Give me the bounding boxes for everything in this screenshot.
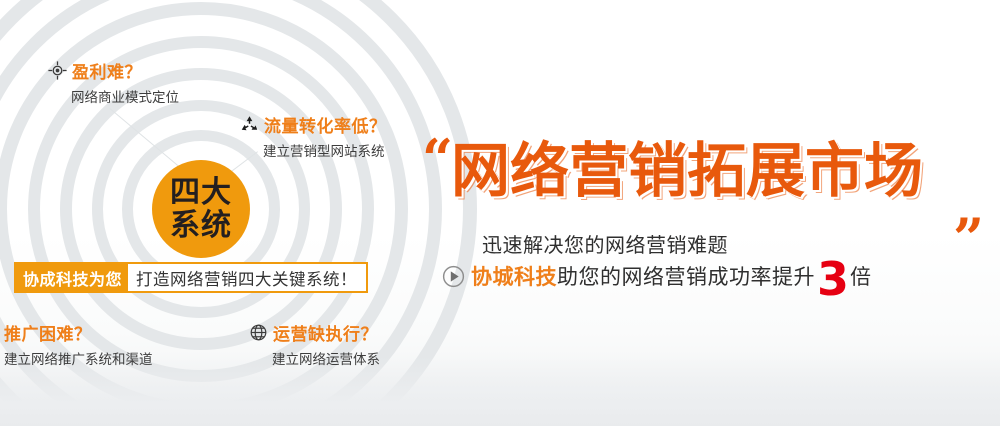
callout-operations-title: 运营缺执行？ (273, 320, 378, 345)
callout-promotion: 推广困难？ 建立网络推广系统和渠道 (4, 320, 153, 368)
callout-conversion-head: 流量转化率低？ (240, 112, 387, 137)
right-message-panel: “ 网络营销拓展市场 „ 迅速解决您的网络营销难题 协城科技 助您的网络营销成功… (420, 0, 1000, 426)
callout-profit-title: 盈利难？ (72, 58, 142, 83)
play-circle-icon (442, 265, 465, 288)
headline-text: 网络营销拓展市场 (451, 141, 923, 200)
subheadline-line1: 迅速解决您的网络营销难题 (482, 229, 728, 258)
callout-profit-head: 盈利难？ (48, 58, 179, 83)
center-circle-line1: 四大 (170, 178, 232, 208)
callout-conversion-title: 流量转化率低？ (264, 112, 387, 137)
callout-conversion: 流量转化率低？ 建立营销型网站系统 (240, 112, 387, 160)
center-circle-badge: 四大 系统 (152, 160, 250, 258)
globe-icon (249, 323, 268, 342)
multiplier-number: 3 (817, 261, 849, 298)
callout-profit-sub: 网络商业模式定位 (71, 86, 179, 106)
center-circle-line2: 系统 (170, 211, 232, 241)
brand-name: 协城科技 (471, 261, 557, 291)
callout-conversion-sub: 建立营销型网站系统 (263, 140, 387, 160)
target-crosshair-icon (48, 61, 67, 80)
callout-promotion-title: 推广困难？ (4, 320, 92, 345)
recycle-icon (240, 115, 259, 134)
tagline-strip: 协成科技为您 打造网络营销四大关键系统！ (14, 262, 368, 293)
quote-open-mark: “ (422, 132, 453, 186)
marketing-banner: 四大 系统 盈利难？ 网络商业模式定位 (0, 0, 1000, 426)
tagline-strip-left: 协成科技为您 (16, 264, 128, 291)
callout-operations-head: 运营缺执行？ (249, 320, 380, 345)
quote-close-mark: „ (954, 180, 985, 234)
multiplier-unit: 倍 (850, 261, 871, 291)
callout-profit: 盈利难？ 网络商业模式定位 (48, 58, 179, 106)
tagline-strip-right: 打造网络营销四大关键系统！ (128, 264, 366, 291)
callout-promotion-sub: 建立网络推广系统和渠道 (4, 348, 153, 368)
callout-operations-sub: 建立网络运营体系 (272, 348, 380, 368)
subheadline-line2: 协城科技 助您的网络营销成功率提升 3 倍 (442, 258, 871, 295)
callout-operations: 运营缺执行？ 建立网络运营体系 (249, 320, 380, 368)
callout-promotion-head: 推广困难？ (4, 320, 153, 345)
subheadline-line2-text: 助您的网络营销成功率提升 (557, 261, 815, 291)
